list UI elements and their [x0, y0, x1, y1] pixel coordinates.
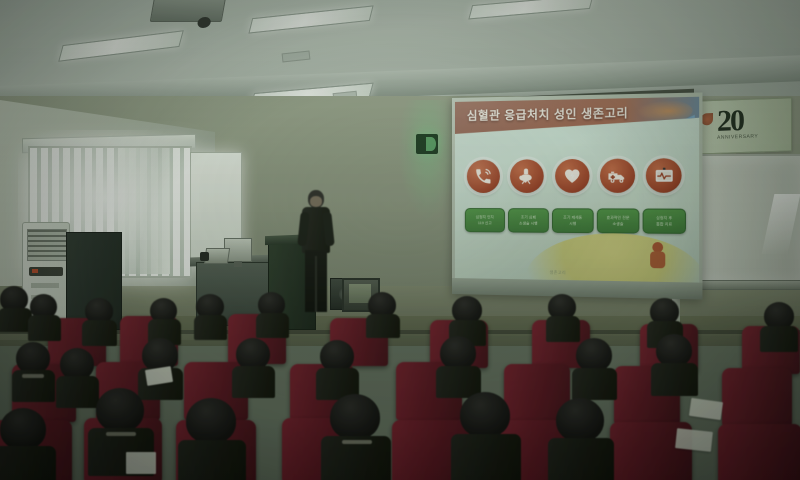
audience-member [16, 342, 52, 400]
audience-member [320, 340, 356, 398]
curtain [118, 148, 170, 274]
audience-member [576, 338, 614, 398]
slide-footer-graphic: 생존고리 [455, 220, 699, 283]
label-line-1: 심정지 후 [656, 216, 672, 221]
ac-grill-icon [27, 229, 67, 261]
emblem-glow [398, 100, 458, 220]
lecture-hall-photo: 20 ANNIVERSARY 심혈관 응급처치 성인 생존고리 [0, 0, 800, 480]
ecg-monitor-icon [646, 158, 682, 193]
audience-member [548, 294, 578, 340]
phone-call-icon [467, 160, 500, 193]
audience-member [0, 286, 30, 330]
audience-member [0, 408, 48, 480]
audience-member [556, 398, 606, 480]
banner-subtitle: ANNIVERSARY [717, 133, 758, 140]
ac-brand-mark [31, 283, 59, 288]
defibrillator-heart-icon [555, 159, 589, 193]
presenter-face [310, 196, 322, 207]
handout-paper [689, 398, 723, 420]
handout-paper [126, 452, 156, 474]
wall-emblem-icon [416, 134, 438, 154]
audience-member [440, 336, 478, 396]
ac-power-led-icon [32, 269, 38, 273]
chain-of-survival-icons [467, 158, 682, 193]
audience-member [656, 334, 694, 394]
audience-member [236, 338, 272, 396]
ceiling-projector [150, 0, 227, 22]
label-line-1: 심정지 인지 [476, 215, 494, 220]
auditorium-chair [722, 368, 792, 426]
audience-member [330, 394, 382, 480]
audience-member [460, 392, 512, 478]
footer-character-illustration [647, 242, 669, 274]
handout-paper [675, 428, 713, 452]
auditorium-chair [718, 424, 800, 480]
character-body [650, 251, 665, 268]
audience-member [85, 298, 115, 344]
audience-member [196, 294, 226, 338]
banner-logo-icon [701, 113, 713, 125]
presentation-slide: 심혈관 응급처치 성인 생존고리 [455, 97, 699, 283]
desk-equipment [200, 252, 209, 261]
ambulance-icon [600, 159, 635, 193]
audience-member [764, 302, 796, 350]
audience-member [60, 348, 96, 406]
label-line-1: 효과적인 전문 [607, 216, 630, 221]
audience-member [368, 292, 398, 336]
audience-member [30, 294, 60, 340]
label-line-1: 조기 심폐 [521, 215, 536, 220]
audience-member [258, 292, 288, 336]
audience-member [186, 398, 238, 480]
anniversary-banner: 20 ANNIVERSARY [694, 97, 792, 154]
cpr-hands-icon [510, 159, 544, 193]
projection-screen: 심혈관 응급처치 성인 생존고리 [452, 92, 702, 299]
slide-footer-text: 생존고리 [550, 270, 566, 276]
audience-area [0, 290, 800, 480]
slide-title: 심혈관 응급처치 성인 생존고리 [467, 104, 629, 123]
label-line-1: 조기 제세동 [563, 215, 582, 220]
whiteboard-glare [762, 194, 800, 254]
header-swoosh-graphic [634, 99, 693, 123]
